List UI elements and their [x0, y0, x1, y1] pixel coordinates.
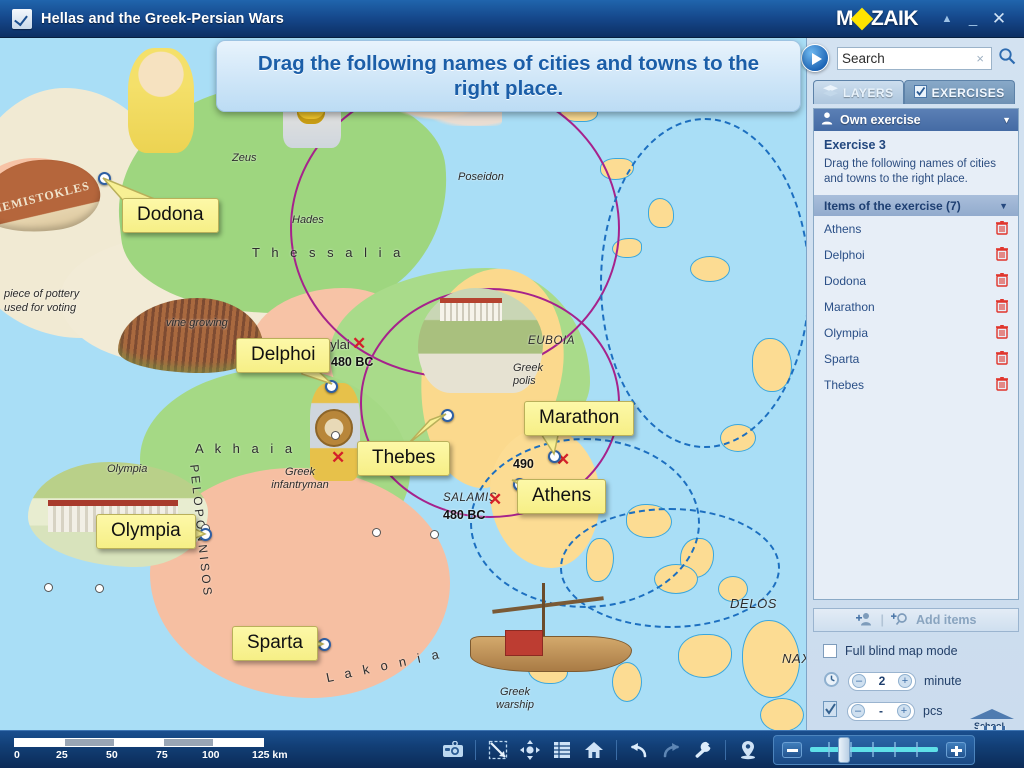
scale-segment: [15, 739, 65, 746]
exercise-options: Full blind map mode – 2 + minute –: [813, 636, 1019, 726]
trash-icon[interactable]: [996, 247, 1008, 264]
battle-x-plataia: ✕: [331, 448, 345, 468]
warship-hull: [470, 636, 632, 672]
exercise-title: Exercise 3: [814, 131, 1018, 155]
user-icon: [821, 112, 833, 128]
pan-icon[interactable]: [515, 736, 545, 764]
play-icon[interactable]: [801, 44, 829, 72]
callout-marathon[interactable]: Marathon: [524, 401, 634, 436]
warship-cabin: [505, 630, 543, 656]
trash-icon[interactable]: [996, 325, 1008, 342]
pcs-row: – - + pcs School: [813, 696, 1019, 726]
region-label-akhaia: A k h a i a: [195, 441, 296, 456]
city-dot[interactable]: [372, 528, 381, 537]
scale-tick: 50: [106, 749, 118, 761]
tab-layers-label: LAYERS: [843, 86, 894, 100]
zoom-out-button[interactable]: [782, 742, 802, 758]
map-label-hades: Hades: [292, 214, 324, 226]
instruction-text: Drag the following names of cities and t…: [239, 51, 778, 101]
instruction-banner: Drag the following names of cities and t…: [216, 40, 801, 112]
list-item[interactable]: Thebes: [814, 372, 1018, 398]
trash-icon[interactable]: [996, 299, 1008, 316]
zoom-tick: [828, 742, 830, 757]
mozaik-logo: M ZAIK: [836, 7, 918, 31]
bottom-toolbar: 0 25 50 75 100 125 km: [0, 730, 1024, 768]
title-bar: Hellas and the Greek-Persian Wars M ZAIK…: [0, 0, 1024, 38]
window-controls-group: M ZAIK ▲ _ ✕: [836, 7, 1024, 31]
own-exercise-header[interactable]: Own exercise ▼: [814, 109, 1018, 131]
exercise-description: Drag the following names of cities and t…: [814, 155, 1018, 195]
close-button[interactable]: ✕: [986, 9, 1012, 29]
city-dot[interactable]: [430, 530, 439, 539]
checklist-icon: [823, 701, 839, 721]
callout-delphoi[interactable]: Delphoi: [236, 338, 330, 373]
add-items-label: Add items: [916, 613, 976, 627]
zoom-tick: [916, 742, 918, 757]
items-header[interactable]: Items of the exercise (7) ▼: [814, 195, 1018, 216]
add-items-bar[interactable]: | Add items: [813, 608, 1019, 632]
tool-buttons: [438, 736, 763, 764]
scale-tick: 0: [14, 749, 20, 761]
zoom-tick: [850, 742, 852, 757]
list-item[interactable]: Olympia: [814, 320, 1018, 346]
trash-icon[interactable]: [996, 377, 1008, 394]
panel-content: Own exercise ▼ Exercise 3 Drag the follo…: [813, 108, 1019, 600]
island: [612, 662, 642, 702]
search-input[interactable]: Search ×: [837, 47, 992, 70]
measure-icon[interactable]: [483, 736, 513, 764]
zoom-slider-thumb[interactable]: [838, 737, 850, 763]
goddess-illustration: [128, 48, 194, 153]
scale-tick: 125 km: [252, 749, 288, 761]
item-label: Delphoi: [824, 248, 865, 262]
scale-segment: [213, 739, 263, 746]
add-person-icon[interactable]: [856, 612, 874, 629]
items-header-label: Items of the exercise (7): [824, 199, 961, 213]
restore-button[interactable]: ▲: [934, 13, 960, 25]
time-limit-row: – 2 + minute: [813, 666, 1019, 696]
item-label: Thebes: [824, 378, 864, 392]
scale-segment: [65, 739, 115, 746]
map-label-euboia: EUBOIA: [528, 335, 575, 347]
window-title: Hellas and the Greek-Persian Wars: [41, 11, 284, 27]
region-label-thessalia: T h e s s a l i a: [252, 245, 404, 260]
zoom-control: [773, 735, 975, 765]
list-item[interactable]: Delphoi: [814, 242, 1018, 268]
zoom-slider-track[interactable]: [810, 747, 938, 752]
panel-tabs: LAYERS EXERCISES: [807, 78, 1024, 104]
logo-diamond-icon: [851, 7, 874, 30]
pcs-plus-button[interactable]: +: [897, 704, 911, 718]
pcs-value: -: [879, 704, 883, 718]
settings-icon[interactable]: [688, 736, 718, 764]
map-label-olympia-site: Olympia: [107, 463, 147, 475]
side-panel: Search × LAYERS EXERCISES: [806, 38, 1024, 730]
own-exercise-label: Own exercise: [840, 113, 921, 127]
city-dot[interactable]: [331, 431, 340, 440]
item-label: Athens: [824, 222, 861, 236]
callout-olympia[interactable]: Olympia: [96, 514, 196, 549]
battle-x-salamis: ✕: [488, 490, 502, 510]
list-item[interactable]: Athens: [814, 216, 1018, 242]
pcs-unit-label: pcs: [923, 704, 942, 718]
map-label-greek-infantryman: Greek infantryman: [268, 466, 332, 491]
city-dot[interactable]: [95, 584, 104, 593]
time-stepper[interactable]: – 2 +: [848, 672, 916, 691]
search-bar: Search ×: [807, 38, 1024, 78]
add-search-icon[interactable]: [891, 612, 909, 629]
map-label-naxos: NAX: [782, 651, 806, 666]
trash-icon[interactable]: [996, 273, 1008, 290]
scale-tick-labels: 0 25 50 75 100 125 km: [14, 749, 306, 762]
app-document-icon: [12, 9, 32, 29]
list-item[interactable]: Marathon: [814, 294, 1018, 320]
trash-icon[interactable]: [996, 351, 1008, 368]
minimize-button[interactable]: _: [960, 10, 986, 27]
map-label-greek-warship: Greek warship: [487, 686, 543, 711]
search-input-value: Search: [842, 51, 973, 66]
item-label: Sparta: [824, 352, 859, 366]
layers-icon: [823, 85, 838, 100]
scale-segment: [164, 739, 214, 746]
exercises-icon: [914, 85, 927, 101]
item-label: Olympia: [824, 326, 868, 340]
tool-divider: [475, 740, 476, 760]
map-label-pottery-line2: used for voting: [4, 302, 76, 314]
pin-icon[interactable]: [733, 736, 763, 764]
scale-bar: [14, 738, 264, 747]
logo-text-right: ZAIK: [871, 7, 918, 31]
chevron-down-icon[interactable]: ▼: [1002, 115, 1011, 125]
list-item[interactable]: Dodona: [814, 268, 1018, 294]
tool-divider: [616, 740, 617, 760]
zoom-tick: [894, 742, 896, 757]
list-item[interactable]: Sparta: [814, 346, 1018, 372]
application-window: Hellas and the Greek-Persian Wars M ZAIK…: [0, 0, 1024, 768]
tab-layers[interactable]: LAYERS: [813, 80, 904, 104]
fleet-route-dashed-east: [600, 118, 806, 448]
scale-segment: [114, 739, 164, 746]
time-value: 2: [879, 674, 886, 688]
scale-tick: 100: [202, 749, 220, 761]
time-unit-label: minute: [924, 674, 962, 688]
undo-icon[interactable]: [624, 736, 654, 764]
zoom-in-button[interactable]: [946, 742, 966, 758]
pcs-stepper[interactable]: – - +: [847, 702, 915, 721]
pcs-minus-button[interactable]: –: [851, 704, 865, 718]
battle-date-salamis: 480 BC: [443, 508, 485, 522]
map-label-zeus: Zeus: [232, 152, 256, 164]
callout-sparta[interactable]: Sparta: [232, 626, 318, 661]
add-bar-divider: |: [881, 613, 885, 627]
clear-search-icon[interactable]: ×: [973, 51, 987, 66]
zoom-tick: [872, 742, 874, 757]
item-label: Dodona: [824, 274, 866, 288]
time-minus-button[interactable]: –: [852, 674, 866, 688]
battle-x-thermopylai: ✕: [352, 334, 366, 354]
tab-exercises-label: EXERCISES: [932, 86, 1005, 100]
redo-icon[interactable]: [656, 736, 686, 764]
time-plus-button[interactable]: +: [898, 674, 912, 688]
callout-athens[interactable]: Athens: [517, 479, 606, 514]
map-label-greek-polis: Greek polis: [513, 362, 563, 387]
map-label-poseidon: Poseidon: [458, 171, 504, 183]
item-label: Marathon: [824, 300, 875, 314]
city-dot[interactable]: [44, 583, 53, 592]
callout-thebes[interactable]: Thebes: [357, 441, 450, 476]
map-label-pottery-line1: piece of pottery: [4, 288, 79, 300]
map-label-delos: DELOS: [730, 596, 777, 611]
chevron-down-icon[interactable]: ▼: [999, 201, 1008, 211]
map-scale: 0 25 50 75 100 125 km: [14, 738, 304, 762]
scale-tick: 75: [156, 749, 168, 761]
search-icon[interactable]: [998, 47, 1016, 70]
tab-exercises[interactable]: EXERCISES: [904, 80, 1015, 104]
blind-mode-checkbox[interactable]: [823, 644, 837, 658]
blind-mode-row[interactable]: Full blind map mode: [813, 636, 1019, 666]
legend-icon[interactable]: [547, 736, 577, 764]
map-canvas[interactable]: THEMISTOKLES T h e s s a l i a A k h a i…: [0, 38, 806, 730]
tool-divider: [725, 740, 726, 760]
home-icon[interactable]: [579, 736, 609, 764]
scale-tick: 25: [56, 749, 68, 761]
callout-dodona[interactable]: Dodona: [122, 198, 219, 233]
clock-icon: [823, 671, 840, 691]
island: [760, 698, 804, 730]
trash-icon[interactable]: [996, 221, 1008, 238]
map-label-vine-growing: vine growing: [166, 317, 228, 329]
camera-icon[interactable]: [438, 736, 468, 764]
blind-mode-label: Full blind map mode: [845, 644, 958, 658]
